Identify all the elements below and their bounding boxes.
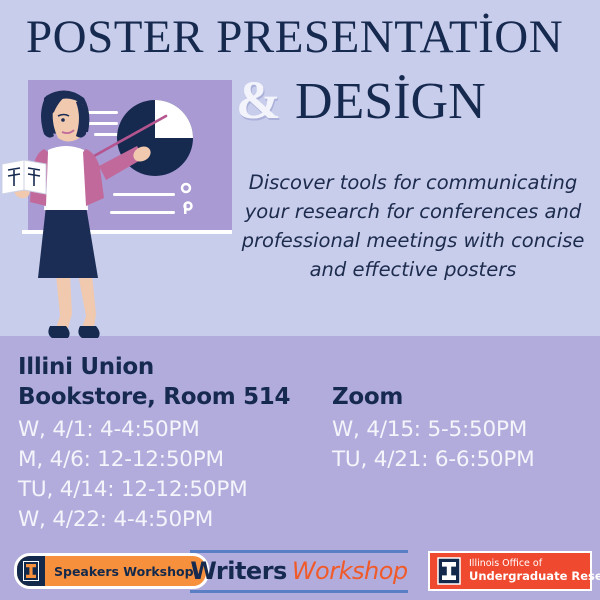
- illinois-i-block-icon: [17, 556, 45, 586]
- session-time: W, 4/15: 5-5:50PM: [332, 415, 594, 445]
- venue-line: Bookstore, Room 514: [18, 382, 328, 412]
- writers-word: Writers: [190, 557, 286, 585]
- session-time: W, 4/1: 4-4:50PM: [18, 415, 328, 445]
- illinois-i-block-icon: [436, 556, 462, 586]
- workshop-word: Workshop: [292, 557, 408, 585]
- poster-title-line-2: &DESİGN: [236, 73, 596, 128]
- open-booklet-icon: [2, 160, 46, 194]
- session-time-list: W, 4/1: 4-4:50PM M, 4/6: 12-12:50PM TU, …: [18, 415, 328, 535]
- poster-description: Discover tools for communicating your re…: [232, 168, 594, 284]
- session-time: W, 4/22: 4-4:50PM: [18, 505, 328, 535]
- presenter-head: [41, 90, 89, 141]
- undergraduate-research-logo[interactable]: Illinois Office of Undergraduate Researc…: [428, 551, 592, 591]
- session-time: M, 4/6: 12-12:50PM: [18, 445, 328, 475]
- footer-logo-bar: Speakers Workshop WritersWorkshop Illino…: [0, 547, 600, 600]
- writers-workshop-logo[interactable]: WritersWorkshop: [190, 550, 408, 593]
- our-line-2: Undergraduate Research: [469, 570, 600, 583]
- presenter-top: [44, 146, 88, 210]
- venue-name: Illini Union Bookstore, Room 514: [18, 352, 328, 412]
- poster-title-line-1: POSTER PRESENTATİON: [26, 14, 586, 61]
- venue-line: Illini Union: [18, 352, 328, 382]
- venue-name: Zoom: [332, 382, 594, 412]
- speakers-workshop-logo[interactable]: Speakers Workshop: [14, 553, 209, 589]
- schedule-block-zoom: Zoom W, 4/15: 5-5:50PM TU, 4/21: 6-6:50P…: [332, 382, 594, 475]
- schedule-block-illini-union: Illini Union Bookstore, Room 514 W, 4/1:…: [18, 352, 328, 535]
- presenter-illustration: [0, 78, 232, 340]
- session-time: TU, 4/14: 12-12:50PM: [18, 475, 328, 505]
- venue-line: Zoom: [332, 382, 594, 412]
- ampersand-glyph: &: [236, 70, 281, 130]
- poster-canvas: POSTER PRESENTATİON &DESİGN Discover too…: [0, 0, 600, 600]
- session-time: TU, 4/21: 6-6:50PM: [332, 445, 594, 475]
- poster-title-design-word: DESİGN: [295, 73, 486, 130]
- speakers-workshop-label: Speakers Workshop: [45, 556, 206, 586]
- presenter-legs: [48, 274, 99, 338]
- session-time-list: W, 4/15: 5-5:50PM TU, 4/21: 6-6:50PM: [332, 415, 594, 475]
- undergraduate-research-text: Illinois Office of Undergraduate Researc…: [469, 559, 600, 583]
